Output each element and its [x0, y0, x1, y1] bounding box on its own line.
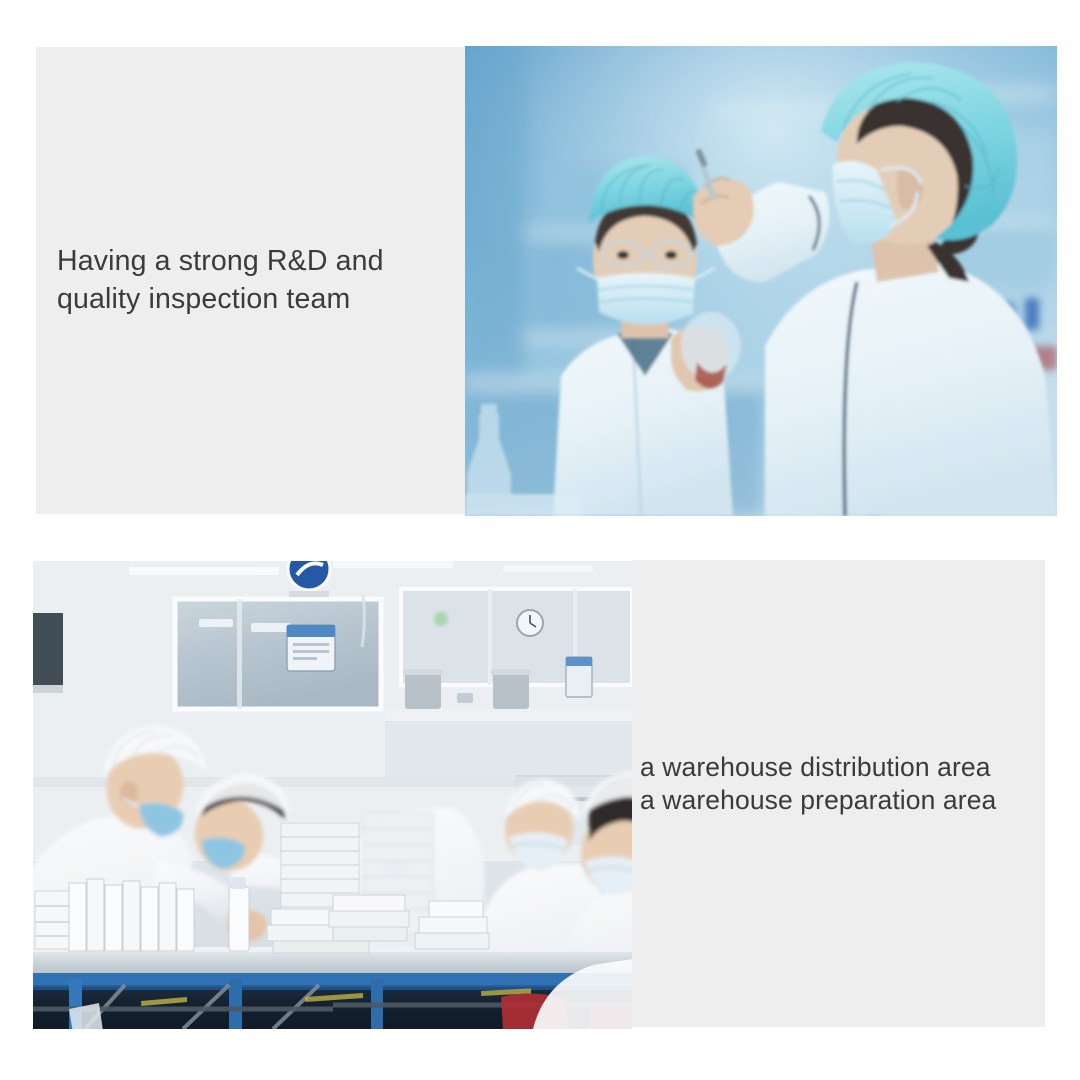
section-rd-quality: Having a strong R&D and quality inspecti…: [36, 46, 1057, 516]
caption-panel-rd-quality: Having a strong R&D and quality inspecti…: [36, 47, 465, 514]
caption-rd-quality: Having a strong R&D and quality inspecti…: [57, 242, 457, 318]
page-root: Having a strong R&D and quality inspecti…: [0, 0, 1080, 1080]
cleanroom-packing-illustration: [33, 561, 632, 1029]
caption-panel-warehouse: a warehouse distribution area a warehous…: [632, 560, 1045, 1027]
cleanroom-packing-photo: [33, 561, 632, 1029]
lab-technicians-photo: [465, 46, 1057, 516]
section-warehouse: a warehouse distribution area a warehous…: [33, 560, 1045, 1029]
caption-warehouse: a warehouse distribution area a warehous…: [640, 751, 1045, 817]
lab-technicians-illustration: [465, 46, 1057, 516]
